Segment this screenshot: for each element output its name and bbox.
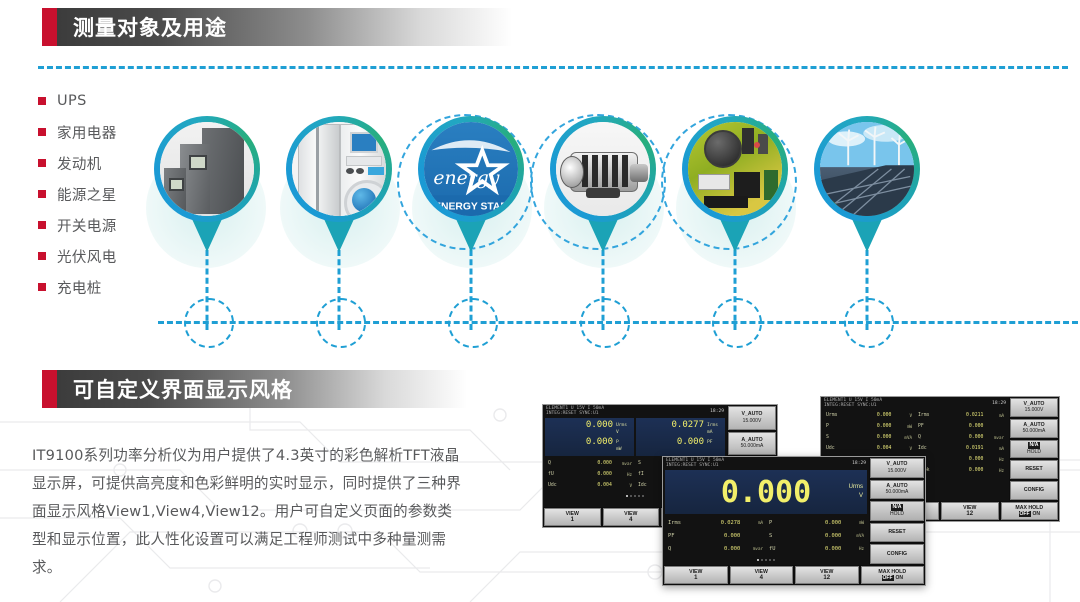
table-row: Udc 0.004 V	[545, 480, 635, 491]
view1-header-line-2: INTEG:RESET SYNC:U1	[666, 463, 724, 468]
button-label: N/A	[891, 504, 904, 511]
table-row: P 0.000 mW	[823, 421, 915, 432]
button-label: RESET	[1025, 466, 1042, 473]
pin-ups[interactable]	[154, 116, 260, 250]
param-unit: Hz	[612, 472, 632, 477]
table-row: Urms 0.000 V	[823, 410, 915, 421]
view4-cell-right: 0.0277 Irms mA 0.000 PF	[636, 418, 725, 456]
view4-header-line-2: INTEG:RESET SYNC:U1	[546, 411, 604, 416]
param-key: PF	[918, 424, 940, 429]
device-screen-view1[interactable]: ELEMENT1 U 15V I 50mA INTEG:RESET SYNC:U…	[662, 456, 926, 586]
instrument-screens-group: ELEMENT1 U 15V I 50mA INTEG:RESET SYNC:U…	[520, 390, 1080, 602]
button-max-hold[interactable]: MAX HOLD OFF ON	[1001, 502, 1059, 520]
button-sublabel: 1	[571, 517, 574, 523]
param-value: 0.000	[570, 461, 612, 466]
button-sublabel: 50.000mA	[886, 489, 909, 496]
button-sublabel: HOLD	[890, 511, 904, 518]
button-label: A_AUTO	[886, 483, 907, 490]
timeline-node-circle	[184, 298, 234, 348]
button-view-12[interactable]: VIEW 12	[795, 566, 859, 584]
list-item-label: 发动机	[57, 153, 102, 174]
timeline-node-circle	[712, 298, 762, 348]
button-option-off[interactable]: OFF	[1019, 511, 1031, 517]
table-row: S 0.000 mVA	[766, 529, 867, 542]
list-item-label: 家用电器	[57, 122, 117, 143]
button-label: RESET	[888, 529, 905, 536]
pin-stem	[470, 250, 473, 330]
view1-display: ELEMENT1 U 15V I 50mA INTEG:RESET SYNC:U…	[663, 457, 869, 565]
view4-sub-1: V	[616, 430, 630, 435]
button-view-1[interactable]: VIEW 1	[544, 508, 601, 526]
button-sublabel: HOLD	[1027, 449, 1041, 456]
param-value: 0.000	[570, 472, 612, 477]
section-header-1: 测量对象及用途	[42, 8, 512, 46]
energy-star-subtext: ENERGY STAR	[434, 201, 508, 212]
bullet-square-icon	[38, 159, 46, 167]
bullet-square-icon	[38, 190, 46, 198]
param-value: 0.000	[794, 546, 842, 552]
param-key: S	[638, 461, 660, 466]
svg-text:energy: energy	[433, 168, 499, 189]
red-accent-bar	[42, 370, 57, 408]
param-key: Q	[668, 546, 693, 552]
button-view-4[interactable]: VIEW 4	[730, 566, 794, 584]
param-value: 0.004	[570, 483, 612, 488]
list-item-label: 开关电源	[57, 215, 117, 236]
param-key: fU	[548, 472, 570, 477]
bullet-square-icon	[38, 221, 46, 229]
pin-ring	[682, 116, 788, 222]
pin-stem	[734, 250, 737, 330]
section-title-2: 可自定义界面显示风格	[73, 374, 293, 404]
param-value: 0.000	[794, 520, 842, 526]
button-sublabel: 15.000V	[743, 418, 762, 425]
button-sublabel: 15.000V	[1025, 407, 1044, 414]
button-option-off[interactable]: OFF	[882, 575, 894, 581]
bullet-square-icon	[38, 283, 46, 291]
description-paragraph: IT9100系列功率分析仪为用户提供了4.3英寸的彩色解析TFT液晶显示屏，可提…	[32, 442, 462, 582]
pin-image-ups	[160, 122, 254, 216]
view1-side-buttons: V_AUTO 15.000V A_AUTO 50.000mA N/A HOLD …	[869, 457, 925, 565]
param-unit: mvar	[612, 461, 632, 466]
header-gradient: 可自定义界面显示风格	[57, 370, 467, 408]
bullet-square-icon	[38, 97, 46, 105]
button-option-on[interactable]: ON	[1033, 511, 1041, 517]
list-item-label: 光伏风电	[57, 246, 117, 267]
pin-image-energy-star: energy ENERGY STAR	[424, 122, 518, 216]
button-a-auto[interactable]: A_AUTO 50.000mA	[870, 480, 924, 500]
table-row: S 0.000 mVA	[823, 432, 915, 443]
table-row: Q 0.000 mvar	[665, 542, 766, 555]
view4-sub-3: mA	[707, 430, 721, 435]
button-label: A_AUTO	[1023, 422, 1044, 429]
param-unit: mA	[983, 413, 1004, 418]
view1-bottom-buttons: VIEW 1 VIEW 4 VIEW 12 MAX HOLD OFF ON	[663, 565, 925, 585]
table-row: Irms 0.0211 mA	[915, 410, 1007, 421]
pin-ring	[286, 116, 392, 222]
param-value: 0.000	[848, 424, 891, 429]
view4-status-bar: ELEMENT1 U 15V I 50mA INTEG:RESET SYNC:U…	[543, 405, 727, 417]
param-value: 0.000	[940, 468, 983, 473]
page-root: 测量对象及用途 UPS 家用电器 发动机 能源之星 开关电源 光伏风电	[0, 0, 1080, 602]
param-key: Q	[548, 461, 570, 466]
button-v-auto[interactable]: V_AUTO 15.000V	[728, 406, 776, 430]
param-value: 0.000	[794, 533, 842, 539]
timeline-node-circle	[316, 298, 366, 348]
pin-stem	[602, 250, 605, 330]
table-row: PF 0.000	[915, 421, 1007, 432]
table-row: fU 0.000 Hz	[545, 469, 635, 480]
application-pin-strip: energy ENERGY STAR	[130, 108, 1080, 348]
pin-solar-wind[interactable]	[814, 116, 920, 250]
button-reset[interactable]: RESET	[1010, 460, 1058, 479]
table-row: P 0.000 mW	[766, 516, 867, 529]
button-label: CONFIG	[887, 551, 907, 558]
header-gradient: 测量对象及用途	[57, 8, 512, 46]
param-unit: mVA	[841, 533, 864, 538]
view4-cell-left: 0.000 Urms V 0.000 P mW	[545, 418, 634, 456]
red-accent-bar	[42, 8, 57, 46]
solar-wind-scene-icon	[820, 122, 914, 216]
param-key: Irms	[668, 520, 693, 526]
divider-dashed-1	[38, 66, 1068, 69]
param-value: 0.000	[693, 533, 741, 539]
view4-clock: 18:29	[710, 409, 724, 414]
param-unit: Hz	[983, 468, 1004, 473]
button-reset[interactable]: RESET	[870, 523, 924, 543]
view1-status-bar: ELEMENT1 U 15V I 50mA INTEG:RESET SYNC:U…	[663, 457, 869, 469]
button-config[interactable]: CONFIG	[1010, 481, 1058, 500]
button-label: A_AUTO	[741, 437, 762, 444]
param-unit: mvar	[983, 435, 1004, 440]
pin-stem	[206, 250, 209, 330]
pin-energy-star[interactable]: energy ENERGY STAR	[418, 116, 524, 250]
param-key: PF	[668, 533, 693, 539]
param-value: 0.000	[848, 413, 891, 418]
pin-image-alternator	[556, 122, 650, 216]
param-value: 0.0278	[693, 520, 741, 526]
button-label: V_AUTO	[887, 461, 908, 468]
list-item-label: 能源之星	[57, 184, 117, 205]
bullet-square-icon	[38, 128, 46, 136]
param-key: fI	[638, 472, 660, 477]
pin-stem	[866, 250, 869, 330]
param-unit: Hz	[841, 546, 864, 551]
view1-param-table: Irms 0.0278 mA P 0.000 mW PF 0.000	[663, 515, 869, 556]
button-view-12[interactable]: VIEW 12	[941, 502, 999, 520]
view4-unit-1: Urms	[616, 423, 630, 428]
view1-big-sub: V	[849, 492, 863, 501]
view4-unit-2: P	[616, 440, 630, 445]
button-sublabel: 4	[629, 517, 632, 523]
button-label: CONFIG	[1024, 487, 1044, 494]
table-row: Irms 0.0278 mA	[665, 516, 766, 529]
button-sublabel: 1	[694, 575, 697, 581]
view4-unit-3: Irms	[707, 423, 721, 428]
view4-value-4: 0.000	[677, 437, 704, 447]
param-unit: mW	[891, 424, 912, 429]
pin-image-home-appliance	[292, 122, 386, 216]
button-a-auto[interactable]: A_AUTO 50.000mA	[728, 432, 776, 456]
button-sublabel: 15.000V	[888, 468, 907, 475]
param-key: P	[826, 424, 848, 429]
button-view-1[interactable]: VIEW 1	[664, 566, 728, 584]
param-unit: Hz	[983, 457, 1004, 462]
button-max-hold[interactable]: MAX HOLD OFF ON	[861, 566, 925, 584]
list-item-label: 充电桩	[57, 277, 102, 298]
table-row: Q 0.000 mvar	[545, 458, 635, 469]
button-label: V_AUTO	[1024, 401, 1045, 408]
param-key: S	[769, 533, 794, 539]
bullet-square-icon	[38, 252, 46, 260]
button-view-4[interactable]: VIEW 4	[603, 508, 660, 526]
button-config[interactable]: CONFIG	[870, 544, 924, 564]
pin-ring	[154, 116, 260, 222]
pin-ring: energy ENERGY STAR	[418, 116, 524, 222]
view1-primary-reading: 0.000 Urms V	[665, 470, 867, 514]
table-row: Idc 0.0191 mA	[915, 443, 1007, 454]
button-sublabel: 12	[966, 511, 973, 517]
table-row: fU 0.000 Hz	[766, 542, 867, 555]
pin-stem	[338, 250, 341, 330]
param-key: Urms	[826, 413, 848, 418]
button-hold[interactable]: N/A HOLD	[1010, 440, 1058, 459]
pin-pcb[interactable]	[682, 116, 788, 250]
param-value: 0.0211	[940, 413, 983, 418]
param-unit: mvar	[740, 546, 763, 551]
table-row: Udc 0.004 V	[823, 443, 915, 454]
param-unit: mA	[983, 446, 1004, 451]
timeline-node-circle	[580, 298, 630, 348]
pin-ring	[814, 116, 920, 222]
view12-side-buttons: V_AUTO 15.000V A_AUTO 50.000mA N/A HOLD …	[1009, 397, 1059, 501]
view4-unit-4: PF	[707, 440, 721, 445]
view4-sub-2: mW	[616, 447, 630, 452]
button-label: V_AUTO	[742, 411, 763, 418]
button-sublabel: 4	[760, 575, 763, 581]
param-unit: mW	[841, 520, 864, 525]
param-key: Idc	[918, 446, 940, 451]
param-key: S	[826, 435, 848, 440]
param-value: 0.000	[848, 435, 891, 440]
table-row: Q 0.000 mvar	[915, 432, 1007, 443]
view1-big-value: 0.000	[721, 475, 811, 510]
pin-home-appliance[interactable]	[286, 116, 392, 250]
param-key: Idc	[638, 483, 660, 488]
view12-header-line-2: INTEG:RESET SYNC:U1	[824, 403, 882, 408]
view4-quad-values: 0.000 Urms V 0.000 P mW	[545, 418, 725, 456]
table-row: Fupk 0.000 Hz	[915, 465, 1007, 476]
button-sublabel: 50.000mA	[1023, 428, 1046, 435]
view12-clock: 18:29	[992, 401, 1006, 406]
button-sublabel: 12	[823, 575, 830, 581]
view1-big-unit: Urms	[849, 483, 863, 492]
param-unit: V	[612, 483, 632, 488]
param-value: 0.000	[940, 435, 983, 440]
pin-image-solar-wind	[820, 122, 914, 216]
param-key: Irms	[918, 413, 940, 418]
view4-value-3: 0.0277	[671, 420, 704, 430]
button-sublabel: 50.000mA	[741, 443, 764, 450]
param-unit: mVA	[891, 435, 912, 440]
param-key: fU	[769, 546, 794, 552]
button-a-auto[interactable]: A_AUTO 50.000mA	[1010, 419, 1058, 438]
param-value: 0.000	[940, 424, 983, 429]
section-header-2: 可自定义界面显示风格	[42, 370, 467, 408]
view4-value-2: 0.000	[586, 437, 613, 447]
view4-value-1: 0.000	[586, 420, 613, 430]
table-row: PF 0.000	[665, 529, 766, 542]
pin-ring	[550, 116, 656, 222]
param-value: 0.004	[848, 446, 891, 451]
param-key: Udc	[826, 446, 848, 451]
param-key: Q	[918, 435, 940, 440]
view1-page-dots	[663, 556, 869, 563]
param-key: P	[769, 520, 794, 526]
button-v-auto[interactable]: V_AUTO 15.000V	[870, 458, 924, 478]
energy-star-logo-icon: energy ENERGY STAR	[424, 122, 518, 216]
section-title-1: 测量对象及用途	[73, 12, 227, 42]
button-label: N/A	[1028, 442, 1041, 449]
param-value: 0.000	[940, 457, 983, 462]
param-unit: mA	[740, 520, 763, 525]
button-option-on[interactable]: ON	[896, 575, 904, 581]
view12-status-bar: ELEMENT1 U 15V I 50mA INTEG:RESET SYNC:U…	[821, 397, 1009, 409]
pin-alternator[interactable]	[550, 116, 656, 250]
timeline-node-circle	[844, 298, 894, 348]
view1-clock: 18:29	[852, 461, 866, 466]
param-key: Udc	[548, 483, 570, 488]
table-row: fI 0.000 Hz	[915, 454, 1007, 465]
pin-image-pcb	[688, 122, 782, 216]
param-value: 0.0191	[940, 446, 983, 451]
button-hold[interactable]: N/A HOLD	[870, 501, 924, 521]
param-unit: V	[891, 413, 912, 418]
list-item-label: UPS	[57, 93, 87, 109]
param-unit: V	[891, 446, 912, 451]
param-value: 0.000	[693, 546, 741, 552]
button-v-auto[interactable]: V_AUTO 15.000V	[1010, 398, 1058, 417]
timeline-node-circle	[448, 298, 498, 348]
